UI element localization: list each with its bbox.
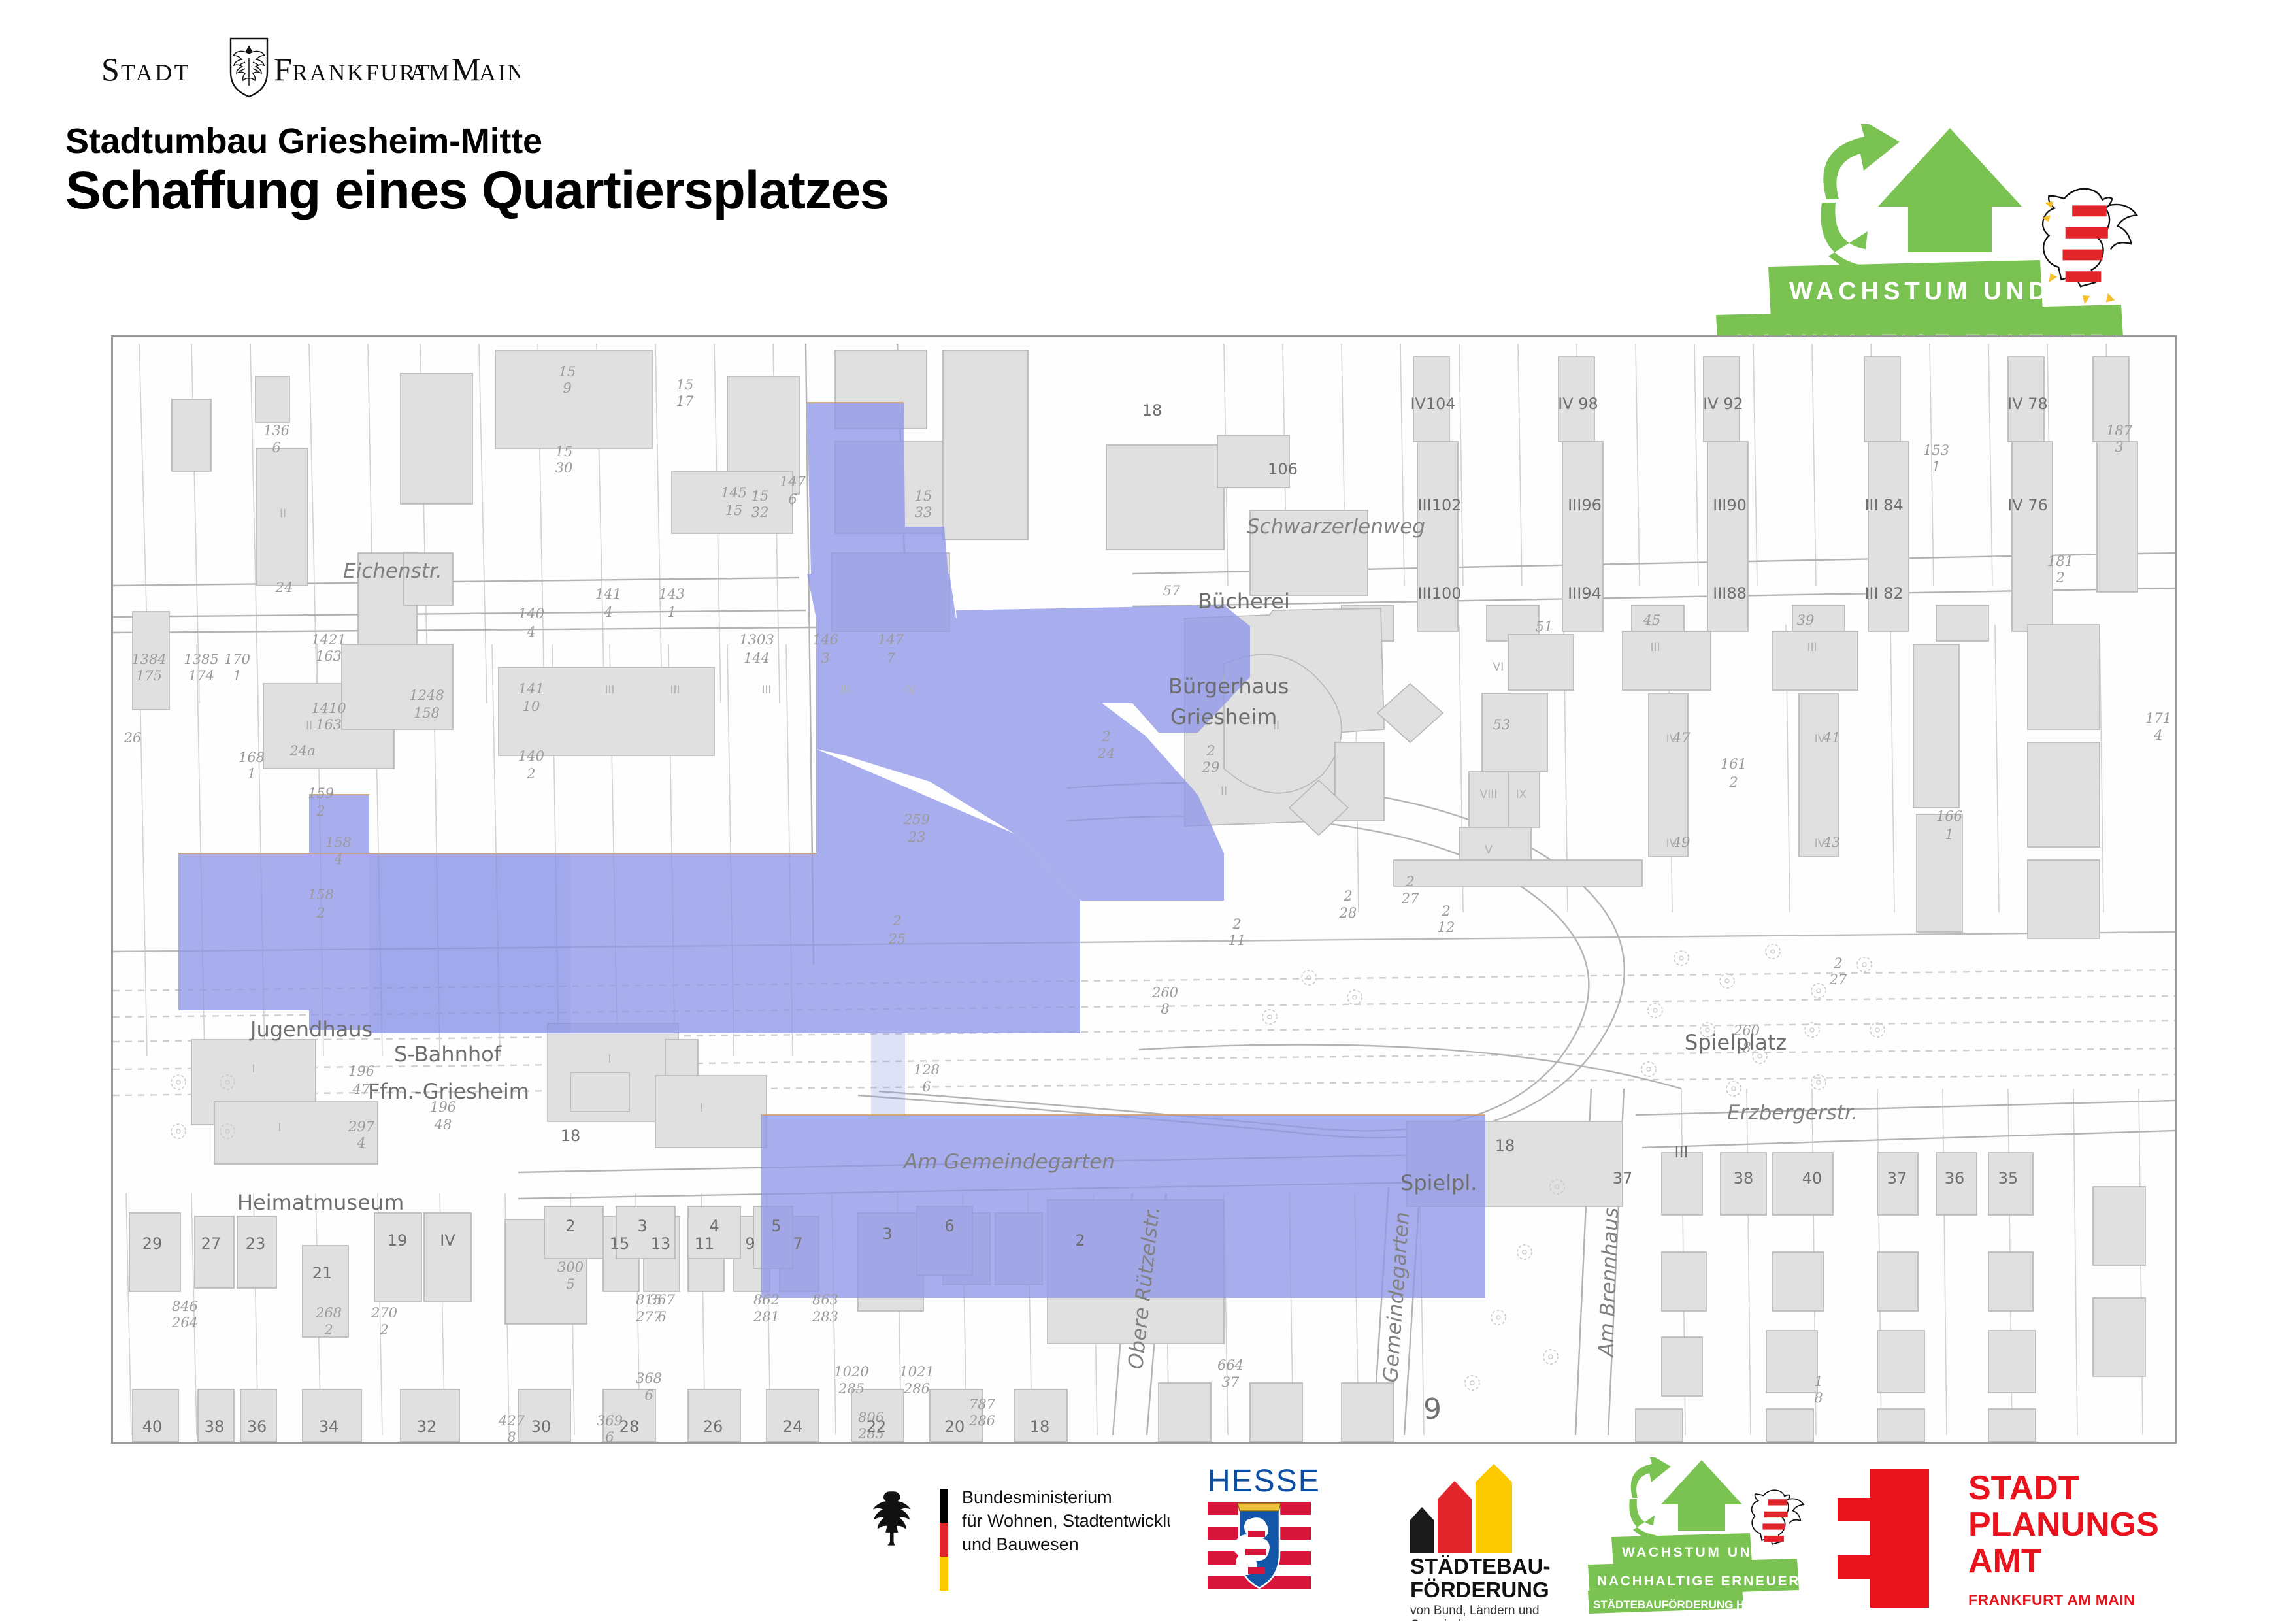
- svg-text:M: M: [452, 51, 480, 88]
- page-subtitle: Stadtumbau Griesheim-Mitte: [65, 121, 542, 161]
- svg-text:I: I: [252, 1063, 255, 1076]
- cadastral-map[interactable]: 1366 2424a 26 1404 14110 1402 1414 1431 …: [111, 335, 2177, 1444]
- place-label-ffm-griesheim: Ffm.-Griesheim: [368, 1079, 529, 1104]
- svg-text:36: 36: [1945, 1169, 1965, 1187]
- svg-text:368: 368: [636, 1370, 662, 1386]
- bundesministerium-logo: Bundesministerium für Wohnen, Stadtentwi…: [863, 1457, 1170, 1621]
- svg-text:53: 53: [1493, 717, 1511, 733]
- svg-text:57: 57: [1163, 583, 1181, 599]
- svg-text:34: 34: [319, 1417, 339, 1436]
- svg-text:4: 4: [2153, 727, 2162, 743]
- svg-text:III: III: [761, 684, 771, 697]
- svg-text:2: 2: [1075, 1231, 1085, 1250]
- svg-text:2: 2: [316, 905, 325, 921]
- svg-text:1384: 1384: [131, 652, 166, 667]
- svg-text:158: 158: [414, 705, 440, 721]
- svg-text:37: 37: [1222, 1374, 1240, 1390]
- svg-text:29: 29: [142, 1235, 163, 1253]
- svg-text:26: 26: [703, 1417, 723, 1436]
- svg-text:36: 36: [247, 1417, 267, 1436]
- svg-text:285: 285: [838, 1381, 865, 1397]
- svg-text:6: 6: [272, 440, 280, 456]
- svg-text:168: 168: [239, 750, 265, 765]
- svg-text:2: 2: [1343, 888, 1352, 904]
- stadt-frankfurt-logo: S TADT F RANKFURT AM M AIN: [101, 36, 520, 95]
- svg-text:367: 367: [649, 1292, 676, 1308]
- map-drawing: 1366 2424a 26 1404 14110 1402 1414 1431 …: [113, 337, 2175, 1442]
- svg-text:IV 92: IV 92: [1703, 395, 1743, 413]
- svg-text:158: 158: [308, 887, 334, 903]
- svg-text:AM: AM: [410, 59, 451, 86]
- svg-text:I: I: [608, 1053, 611, 1066]
- svg-text:19: 19: [388, 1231, 408, 1250]
- svg-text:2: 2: [1405, 874, 1414, 889]
- svg-text:2: 2: [2055, 570, 2064, 586]
- svg-text:27: 27: [201, 1235, 222, 1253]
- wne-line1-text: WACHSTUM UND: [1789, 278, 2051, 305]
- place-label-heimatmuseum: Heimatmuseum: [237, 1190, 404, 1215]
- svg-text:I: I: [278, 1121, 281, 1135]
- svg-text:15: 15: [676, 377, 694, 393]
- svg-text:III: III: [1674, 1143, 1688, 1161]
- svg-text:37: 37: [1613, 1169, 1633, 1187]
- page-header: S TADT F RANKFURT AM M AIN Stadtumbau Gr…: [0, 0, 2293, 327]
- svg-text:38: 38: [205, 1417, 225, 1436]
- place-label-s-bahnhof: S-Bahnhof: [394, 1042, 502, 1067]
- svg-text:38: 38: [1734, 1169, 1754, 1187]
- svg-text:3: 3: [637, 1217, 647, 1235]
- bmwsb-line2: für Wohnen, Stadtentwicklung: [962, 1511, 1170, 1531]
- svg-text:281: 281: [753, 1309, 780, 1325]
- svg-text:32: 32: [417, 1417, 437, 1436]
- svg-text:33: 33: [915, 505, 932, 520]
- svg-text:28: 28: [1339, 905, 1357, 921]
- svg-text:15: 15: [915, 488, 932, 504]
- svg-text:18: 18: [561, 1127, 581, 1145]
- svg-text:35: 35: [1998, 1169, 2019, 1187]
- svg-text:270: 270: [371, 1305, 397, 1321]
- svg-text:III94: III94: [1568, 584, 1602, 603]
- svg-text:1: 1: [1932, 459, 1940, 474]
- svg-text:TADT: TADT: [121, 59, 191, 86]
- svg-text:III: III: [840, 684, 850, 697]
- svg-text:6: 6: [657, 1309, 666, 1325]
- svg-text:23: 23: [246, 1235, 266, 1253]
- bmwsb-line1: Bundesministerium: [962, 1487, 1112, 1507]
- svg-text:V: V: [1485, 844, 1493, 857]
- svg-text:VIII: VIII: [1480, 788, 1498, 801]
- place-label-griesheim: Griesheim: [1170, 704, 1277, 729]
- svg-text:18: 18: [1495, 1136, 1515, 1155]
- svg-text:18: 18: [1030, 1417, 1050, 1436]
- svg-text:4: 4: [526, 624, 535, 640]
- svg-text:22: 22: [866, 1417, 887, 1436]
- svg-text:2: 2: [1728, 774, 1738, 790]
- svg-text:15: 15: [559, 364, 576, 380]
- stadtplanungsamt-logo: STADT PLANUNGS AMT FRANKFURT AM MAIN: [1830, 1457, 2169, 1621]
- svg-text:F: F: [274, 51, 292, 88]
- svg-text:146: 146: [812, 632, 838, 648]
- svg-text:III96: III96: [1568, 496, 1602, 514]
- svg-text:159: 159: [308, 786, 334, 801]
- place-label-spielplatz: Spielplatz: [1685, 1030, 1787, 1055]
- svg-text:15: 15: [610, 1235, 630, 1253]
- svg-text:6: 6: [644, 1387, 653, 1403]
- svg-text:106: 106: [1268, 460, 1298, 478]
- svg-text:IV104: IV104: [1410, 395, 1455, 413]
- svg-text:11: 11: [1229, 933, 1246, 948]
- svg-text:170: 170: [224, 652, 250, 667]
- svg-text:39: 39: [1797, 612, 1815, 628]
- place-label-jugendhaus: Jugendhaus: [249, 1017, 372, 1042]
- svg-text:8: 8: [1814, 1390, 1823, 1406]
- svg-text:45: 45: [1643, 612, 1661, 628]
- svg-text:297: 297: [348, 1119, 375, 1135]
- place-label-buecherei: Bücherei: [1198, 589, 1290, 614]
- svg-text:2: 2: [1101, 729, 1110, 744]
- svg-text:862: 862: [753, 1292, 780, 1308]
- svg-text:IV: IV: [1815, 733, 1826, 746]
- svg-text:6: 6: [944, 1217, 954, 1235]
- svg-text:2: 2: [892, 913, 901, 929]
- svg-text:300: 300: [557, 1259, 584, 1275]
- page-footer: Bundesministerium für Wohnen, Stadtentwi…: [0, 1457, 2293, 1621]
- svg-text:144: 144: [744, 650, 770, 666]
- svg-text:30: 30: [555, 460, 573, 476]
- wne-footer-line1: WACHSTUM UND: [1622, 1545, 1764, 1560]
- svg-text:III 84: III 84: [1864, 496, 1903, 514]
- svg-text:2: 2: [379, 1322, 388, 1338]
- bmwsb-line3: und Bauwesen: [962, 1534, 1079, 1554]
- svg-text:9: 9: [745, 1235, 755, 1253]
- svg-text:20: 20: [945, 1417, 965, 1436]
- street-label-erzbergerstr: Erzbergerstr.: [1727, 1101, 1858, 1125]
- svg-text:30: 30: [531, 1417, 552, 1436]
- svg-text:3: 3: [821, 650, 829, 666]
- svg-text:28: 28: [619, 1417, 640, 1436]
- svg-text:147: 147: [780, 474, 806, 489]
- svg-text:427: 427: [498, 1413, 525, 1429]
- svg-text:1: 1: [1945, 827, 1953, 842]
- svg-text:1: 1: [233, 668, 241, 684]
- svg-text:5: 5: [771, 1217, 781, 1235]
- svg-text:8: 8: [507, 1429, 516, 1442]
- svg-text:10: 10: [523, 699, 540, 714]
- svg-text:2: 2: [1206, 743, 1215, 759]
- svg-text:23: 23: [908, 829, 926, 845]
- spa-line2: PLANUNGS: [1968, 1506, 2159, 1544]
- svg-text:III102: III102: [1417, 496, 1461, 514]
- svg-text:163: 163: [316, 648, 342, 664]
- stb-line2: FÖRDERUNG: [1410, 1578, 1549, 1602]
- svg-text:III: III: [604, 684, 614, 697]
- svg-text:37: 37: [1887, 1169, 1907, 1187]
- svg-text:40: 40: [1802, 1169, 1823, 1187]
- svg-text:II: II: [1221, 785, 1227, 798]
- svg-text:III88: III88: [1713, 584, 1747, 603]
- svg-text:AIN: AIN: [479, 59, 520, 86]
- svg-text:15: 15: [555, 444, 573, 459]
- svg-text:2: 2: [565, 1217, 575, 1235]
- wachstum-erneuerung-logo-footer: WACHSTUM UND NACHHALTIGE ERNEUERUNG STÄD…: [1588, 1457, 1849, 1621]
- street-label-eichenstr: Eichenstr.: [343, 559, 442, 583]
- svg-text:163: 163: [316, 717, 342, 733]
- svg-text:III100: III100: [1417, 584, 1461, 603]
- svg-text:260: 260: [1151, 985, 1178, 1001]
- stb-line1: STÄDTEBAU-: [1410, 1554, 1550, 1578]
- svg-text:153: 153: [1923, 442, 1949, 458]
- svg-text:283: 283: [812, 1309, 838, 1325]
- svg-text:174: 174: [188, 668, 214, 684]
- svg-text:664: 664: [1217, 1357, 1244, 1373]
- svg-text:4: 4: [709, 1217, 719, 1235]
- svg-text:3: 3: [882, 1225, 892, 1243]
- svg-text:1303: 1303: [739, 632, 774, 648]
- svg-text:24: 24: [1097, 746, 1115, 761]
- svg-text:24a: 24a: [289, 743, 315, 759]
- svg-text:1: 1: [1814, 1374, 1823, 1389]
- svg-text:S: S: [101, 51, 120, 88]
- svg-text:147: 147: [878, 632, 904, 648]
- svg-text:863: 863: [812, 1292, 838, 1308]
- svg-text:136: 136: [263, 423, 289, 439]
- svg-text:11: 11: [695, 1235, 715, 1253]
- svg-text:26: 26: [124, 730, 142, 746]
- svg-text:27: 27: [1829, 972, 1847, 987]
- svg-text:III: III: [1650, 641, 1660, 654]
- svg-text:8: 8: [1161, 1001, 1169, 1017]
- svg-text:140: 140: [518, 606, 544, 621]
- svg-text:IV: IV: [1815, 837, 1826, 850]
- svg-text:1: 1: [247, 766, 256, 782]
- svg-text:141: 141: [518, 681, 544, 697]
- svg-text:12: 12: [1438, 920, 1455, 935]
- svg-text:27: 27: [1401, 891, 1419, 906]
- svg-text:259: 259: [903, 812, 930, 827]
- svg-text:6: 6: [788, 491, 797, 507]
- svg-text:25: 25: [888, 931, 906, 947]
- svg-text:IV: IV: [905, 684, 916, 697]
- spa-sub: FRANKFURT AM MAIN: [1968, 1591, 2135, 1608]
- svg-text:3: 3: [2115, 439, 2123, 455]
- map-marker-nine: 9: [1423, 1393, 1442, 1426]
- svg-text:51: 51: [1536, 619, 1553, 635]
- svg-text:128: 128: [914, 1062, 940, 1078]
- svg-text:4: 4: [603, 605, 612, 620]
- svg-text:IV 78: IV 78: [2007, 395, 2048, 413]
- svg-text:III: III: [1807, 641, 1817, 654]
- svg-text:264: 264: [171, 1315, 198, 1331]
- hessen-wordmark: HESSEN: [1208, 1464, 1320, 1499]
- svg-text:IV 98: IV 98: [1558, 395, 1598, 413]
- svg-text:15: 15: [725, 503, 743, 518]
- svg-text:5: 5: [566, 1276, 574, 1292]
- svg-text:787: 787: [969, 1397, 996, 1412]
- svg-text:1021: 1021: [899, 1364, 934, 1380]
- spa-line1: STADT: [1968, 1469, 2079, 1507]
- svg-text:143: 143: [659, 586, 685, 602]
- svg-text:III90: III90: [1713, 496, 1747, 514]
- svg-text:15: 15: [751, 488, 769, 504]
- svg-text:7: 7: [793, 1235, 802, 1253]
- street-label-am-gemeindegarten: Am Gemeindegarten: [902, 1150, 1115, 1174]
- stb-sub2: Gemeinden: [1410, 1618, 1474, 1621]
- street-label-schwarzerlenweg: Schwarzerlenweg: [1247, 515, 1425, 539]
- svg-text:1385: 1385: [184, 652, 218, 667]
- svg-text:32: 32: [751, 505, 769, 520]
- svg-text:1: 1: [667, 605, 676, 620]
- svg-text:III 82: III 82: [1864, 584, 1903, 603]
- svg-text:181: 181: [2047, 554, 2073, 569]
- svg-text:VI: VI: [1493, 661, 1504, 674]
- stb-sub1: von Bund, Ländern und: [1410, 1604, 1540, 1617]
- svg-text:166: 166: [1936, 808, 1962, 824]
- svg-text:161: 161: [1721, 756, 1747, 772]
- svg-text:2: 2: [1833, 955, 1842, 971]
- svg-text:48: 48: [434, 1117, 452, 1133]
- svg-text:29: 29: [1202, 759, 1220, 775]
- svg-text:2: 2: [1232, 916, 1241, 932]
- svg-text:6: 6: [605, 1429, 614, 1442]
- svg-text:2: 2: [526, 766, 535, 782]
- place-label-spielpl: Spielpl.: [1400, 1170, 1477, 1195]
- svg-text:846: 846: [172, 1299, 198, 1314]
- svg-text:9: 9: [563, 380, 571, 396]
- svg-text:21: 21: [312, 1264, 333, 1282]
- wne-footer-line3: STÄDTEBAUFÖRDERUNG HESSEN: [1593, 1599, 1782, 1611]
- svg-text:7: 7: [886, 650, 895, 666]
- svg-text:141: 141: [595, 586, 621, 602]
- hessen-logo: HESSEN: [1202, 1457, 1320, 1621]
- svg-text:24: 24: [275, 580, 293, 595]
- svg-text:1410: 1410: [311, 701, 346, 716]
- svg-text:2: 2: [323, 1322, 333, 1338]
- staedtebaufoerderung-logo: STÄDTEBAU- FÖRDERUNG von Bund, Ländern u…: [1392, 1457, 1588, 1621]
- svg-text:286: 286: [968, 1413, 995, 1429]
- svg-text:24: 24: [783, 1417, 803, 1436]
- svg-text:40: 40: [142, 1417, 163, 1436]
- page-title: Schaffung eines Quartiersplatzes: [65, 160, 889, 222]
- svg-text:IV: IV: [440, 1231, 455, 1250]
- spa-line3: AMT: [1968, 1542, 2042, 1580]
- svg-text:II: II: [280, 507, 286, 520]
- svg-text:187: 187: [2106, 423, 2133, 439]
- svg-text:6: 6: [922, 1079, 931, 1095]
- wne-footer-line2: NACHHALTIGE ERNEUERUNG: [1597, 1574, 1836, 1589]
- place-label-buergerhaus: Bürgerhaus: [1168, 674, 1289, 699]
- svg-text:268: 268: [315, 1305, 342, 1321]
- svg-text:1248: 1248: [409, 688, 444, 703]
- svg-text:II: II: [306, 720, 312, 733]
- svg-text:158: 158: [325, 835, 352, 850]
- svg-text:1421: 1421: [311, 632, 346, 648]
- svg-text:196: 196: [348, 1063, 374, 1079]
- svg-text:18: 18: [1142, 401, 1163, 420]
- svg-text:175: 175: [136, 668, 162, 684]
- svg-text:IV: IV: [1666, 837, 1677, 850]
- svg-text:2: 2: [316, 803, 325, 819]
- svg-text:IV 76: IV 76: [2007, 496, 2048, 514]
- svg-text:4: 4: [333, 852, 342, 867]
- svg-text:286: 286: [903, 1381, 930, 1397]
- svg-text:2: 2: [1441, 903, 1450, 919]
- svg-text:17: 17: [676, 393, 694, 409]
- svg-text:171: 171: [2145, 710, 2171, 726]
- svg-text:IV: IV: [1666, 733, 1677, 746]
- svg-text:140: 140: [518, 748, 544, 764]
- svg-text:13: 13: [651, 1235, 671, 1253]
- svg-text:4: 4: [356, 1135, 365, 1151]
- svg-text:145: 145: [721, 485, 747, 501]
- svg-text:IX: IX: [1516, 788, 1527, 801]
- svg-text:I: I: [699, 1102, 702, 1115]
- svg-text:1020: 1020: [834, 1364, 868, 1380]
- svg-text:III: III: [670, 684, 680, 697]
